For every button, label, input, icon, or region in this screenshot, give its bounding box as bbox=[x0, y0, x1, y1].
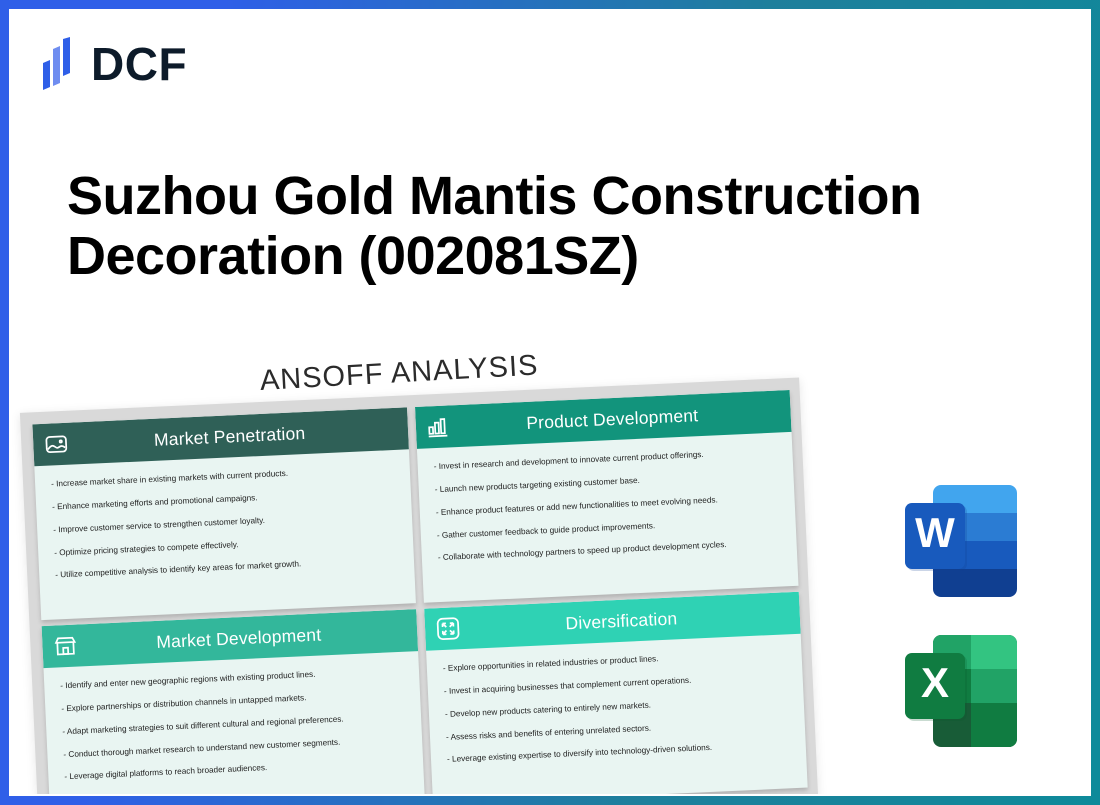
quadrant-point: Enhance product features or add new func… bbox=[436, 492, 779, 517]
axis-label-existing-markets: Existing Markets bbox=[9, 496, 11, 666]
quadrant-point: Collaborate with technology partners to … bbox=[438, 538, 781, 563]
quadrant-title: Product Development bbox=[451, 400, 791, 436]
quadrant-points: Identify and enter new geographic region… bbox=[43, 651, 424, 796]
quadrant-point: Utilize competitive analysis to identify… bbox=[55, 555, 398, 580]
quadrant-point: Invest in acquiring businesses that comp… bbox=[444, 671, 787, 696]
quadrant-point: Develop new products catering to entirel… bbox=[445, 694, 788, 719]
quadrant-title: Market Development bbox=[78, 620, 418, 656]
quadrant-point: Identify and enter new geographic region… bbox=[60, 666, 403, 691]
quadrant-market-penetration[interactable]: Market Penetration Increase market share… bbox=[32, 407, 416, 620]
quadrant-points: Explore opportunities in related industr… bbox=[426, 634, 807, 787]
quadrant-point: Launch new products targeting existing c… bbox=[435, 469, 778, 494]
storefront-icon bbox=[52, 633, 79, 660]
quadrant-point: Enhance marketing efforts and promotiona… bbox=[52, 487, 395, 512]
ansoff-matrix-board: Market Penetration Increase market share… bbox=[20, 378, 818, 796]
quadrant-title: Market Penetration bbox=[69, 418, 409, 454]
quadrant-product-development[interactable]: Product Development Invest in research a… bbox=[415, 390, 799, 603]
quadrant-point: Leverage existing expertise to diversify… bbox=[447, 740, 790, 765]
quadrant-points: Increase market share in existing market… bbox=[34, 449, 415, 602]
quadrant-point: Explore partnerships or distribution cha… bbox=[61, 689, 404, 714]
brand-name: DCF bbox=[91, 41, 187, 87]
image-photo-icon bbox=[43, 431, 70, 458]
quadrant-point: Assess risks and benefits of entering un… bbox=[446, 717, 789, 742]
page-canvas: DCF Suzhou Gold Mantis Construction Deco… bbox=[9, 9, 1091, 796]
ansoff-analysis-graphic: ANSOFF ANALYSIS Market Penetration Incre… bbox=[9, 351, 825, 796]
quadrant-point: Improve customer service to strengthen c… bbox=[53, 510, 396, 535]
dcf-bars-logo-icon bbox=[39, 37, 79, 91]
quadrant-point: Optimize pricing strategies to compete e… bbox=[54, 532, 397, 557]
quadrant-market-development[interactable]: Market Development Identify and enter ne… bbox=[42, 609, 426, 796]
quadrant-title: Diversification bbox=[461, 602, 801, 638]
expand-arrows-icon bbox=[435, 615, 462, 642]
quadrant-point: Invest in research and development to in… bbox=[434, 447, 777, 472]
microsoft-word-icon[interactable]: W bbox=[897, 477, 1029, 605]
page-title: Suzhou Gold Mantis Construction Decorati… bbox=[67, 166, 1027, 287]
quadrant-point: Leverage digital platforms to reach broa… bbox=[64, 757, 407, 782]
word-letter: W bbox=[915, 509, 955, 556]
bar-chart-icon bbox=[425, 413, 452, 440]
quadrant-point: Increase market share in existing market… bbox=[51, 464, 394, 489]
quadrant-point: Conduct thorough market research to unde… bbox=[63, 734, 406, 759]
excel-letter: X bbox=[921, 659, 949, 706]
quadrant-point: Adapt marketing strategies to suit diffe… bbox=[62, 711, 405, 736]
quadrant-point: Explore opportunities in related industr… bbox=[443, 648, 786, 673]
quadrant-diversification[interactable]: Diversification Explore opportunities in… bbox=[424, 592, 808, 796]
page-frame: DCF Suzhou Gold Mantis Construction Deco… bbox=[0, 0, 1100, 805]
microsoft-excel-icon[interactable]: X bbox=[897, 627, 1029, 755]
quadrant-points: Invest in research and development to in… bbox=[417, 432, 798, 585]
quadrant-point: Gather customer feedback to guide produc… bbox=[437, 515, 780, 540]
brand-logo[interactable]: DCF bbox=[39, 37, 187, 91]
